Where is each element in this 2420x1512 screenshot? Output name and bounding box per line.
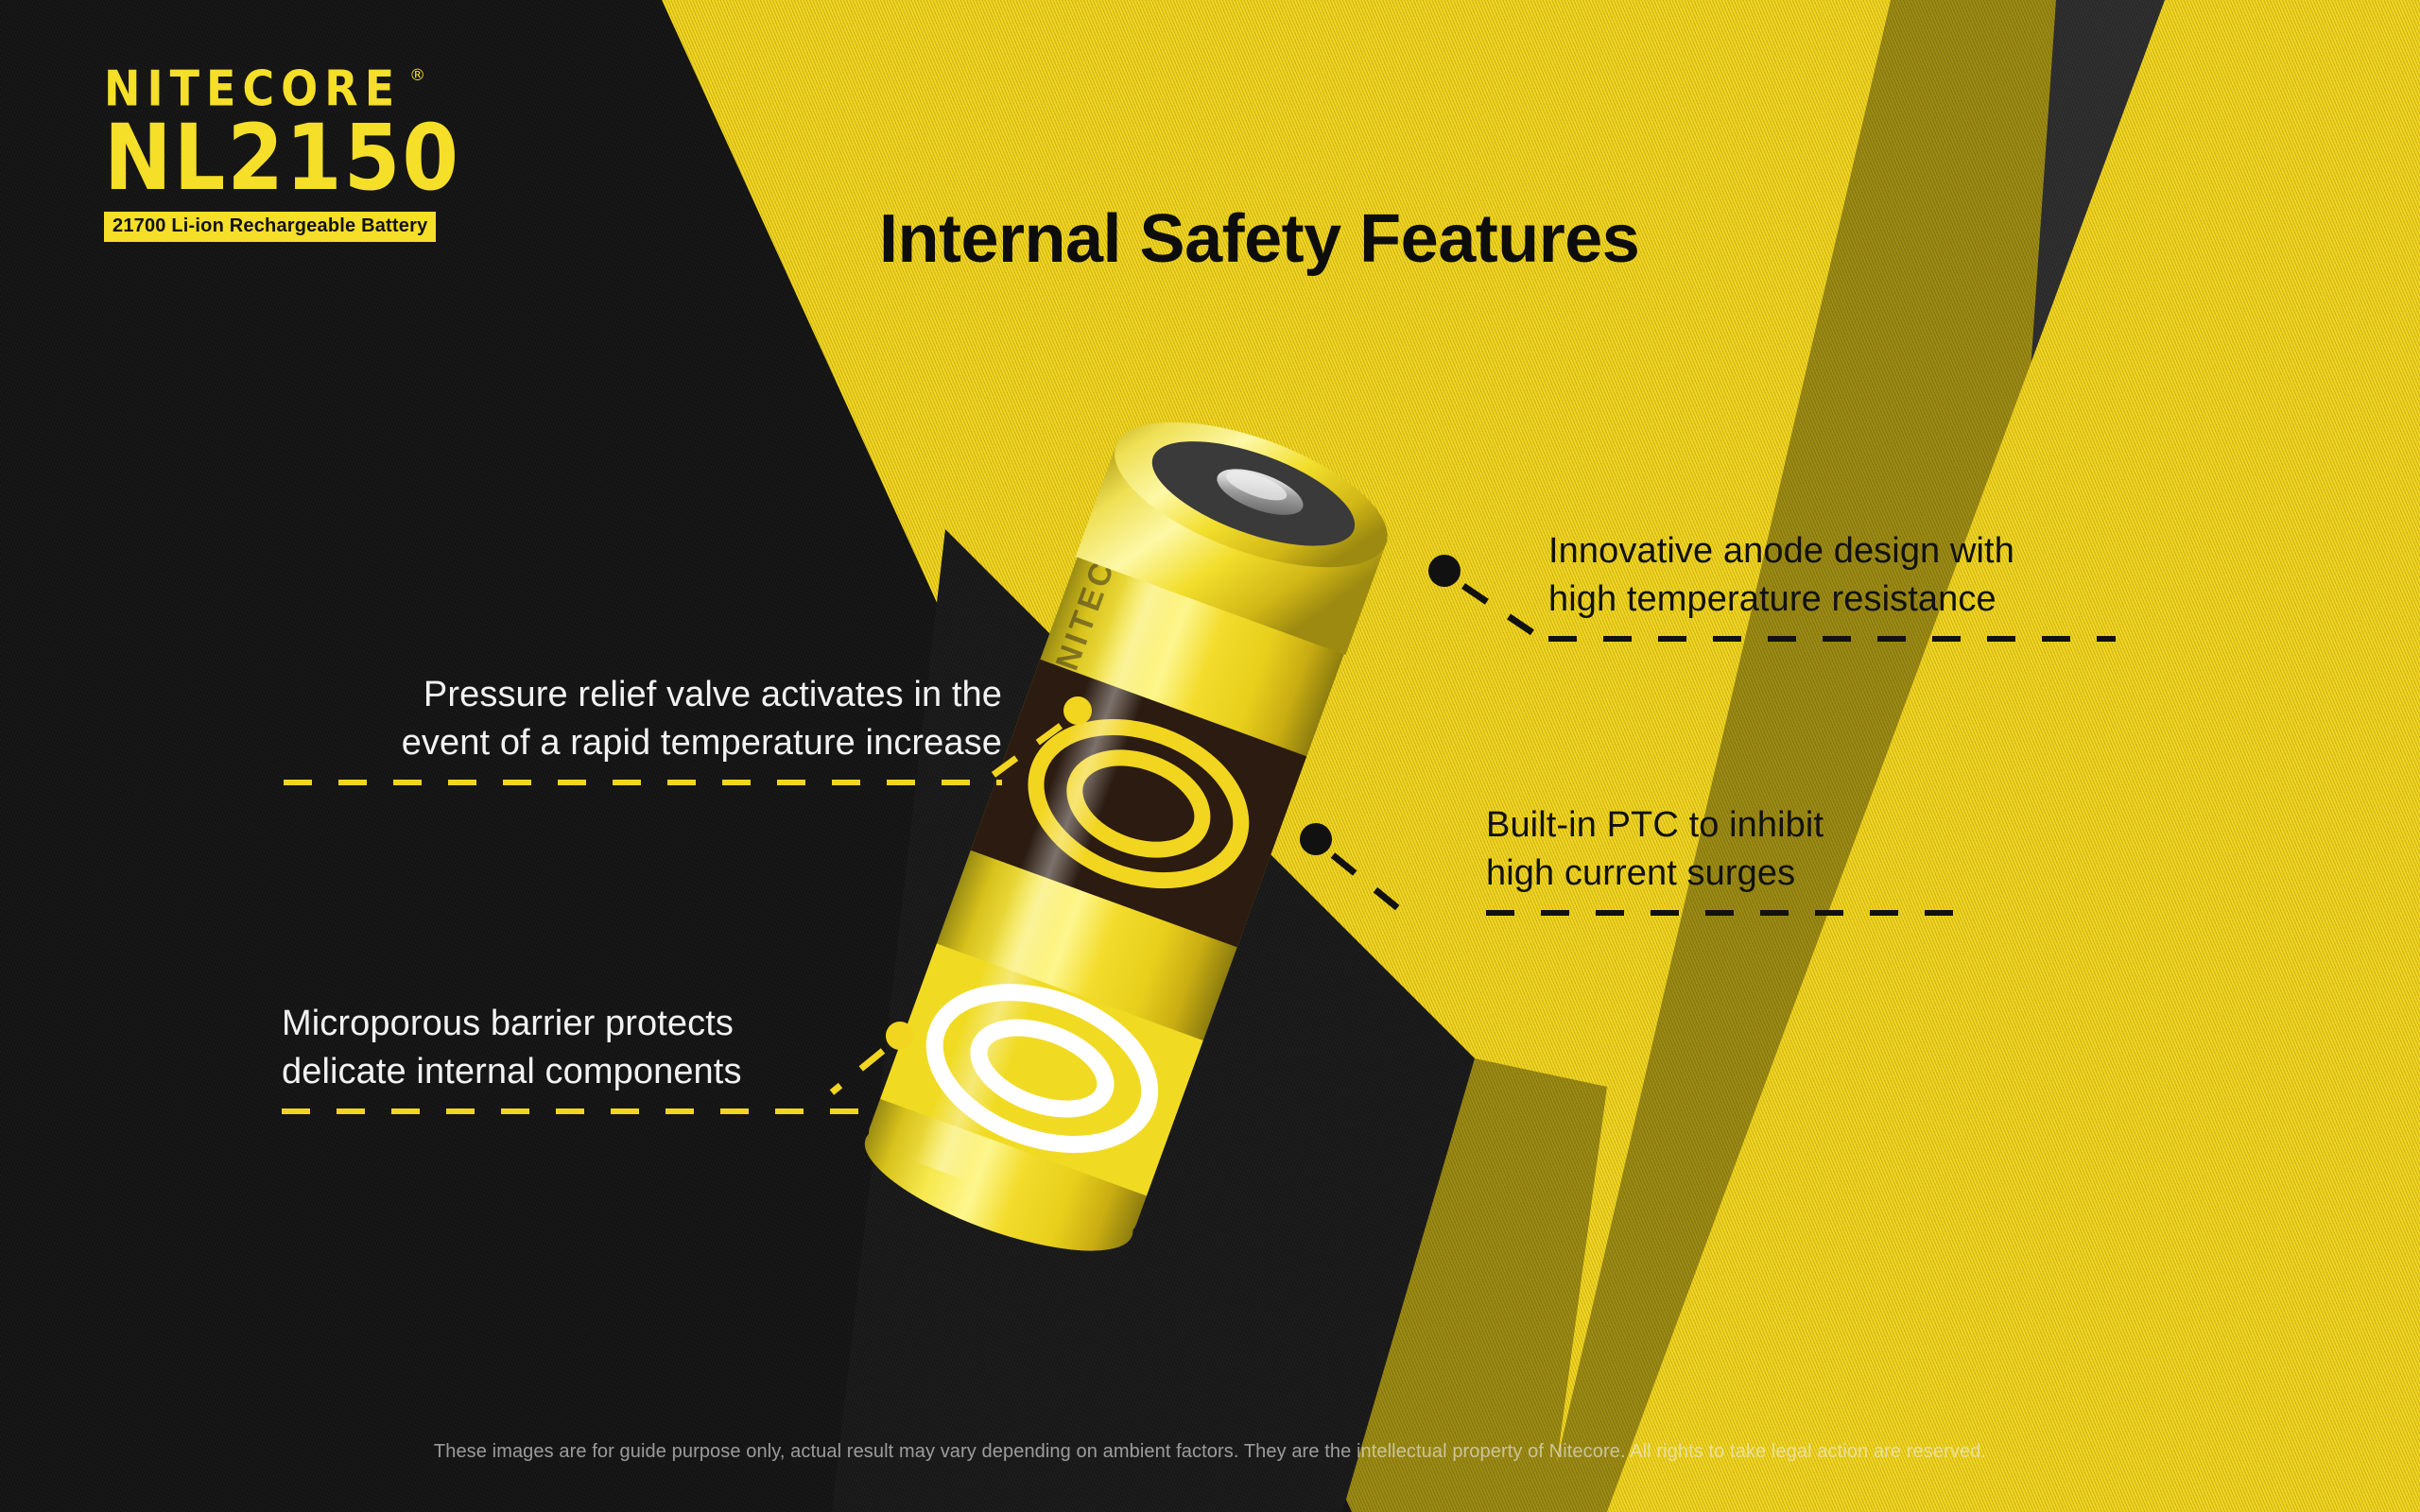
registered-mark-icon: ® xyxy=(409,68,425,84)
callout-microporous-line-2: delicate internal components xyxy=(282,1048,868,1096)
battery-illustration: NITECORE xyxy=(832,416,1512,1361)
brand-row: NITECORE ® xyxy=(104,64,454,108)
callout-microporous-barrier: Microporous barrier protects delicate in… xyxy=(282,1000,868,1114)
callout-pressure-relief-line-1: Pressure relief valve activates in the xyxy=(284,671,1002,719)
callout-anode: Innovative anode design with high temper… xyxy=(1548,527,2116,642)
callout-ptc: Built-in PTC to inhibit high current sur… xyxy=(1486,801,1978,916)
callout-anode-line-1: Innovative anode design with xyxy=(1548,527,2116,576)
product-model: NL2150 xyxy=(104,115,460,202)
infographic-canvas: NITECORE ® NL2150 21700 Li-ion Rechargea… xyxy=(0,0,2420,1512)
battery-group: NITECORE xyxy=(849,416,1406,1278)
callout-ptc-line-2: high current surges xyxy=(1486,850,1978,898)
page-title: Internal Safety Features xyxy=(879,200,1639,278)
brand-logo-block: NITECORE ® NL2150 21700 Li-ion Rechargea… xyxy=(104,64,454,242)
product-subtitle: 21700 Li-ion Rechargeable Battery xyxy=(104,212,436,242)
callout-anode-underline xyxy=(1548,636,2116,642)
callout-ptc-line-1: Built-in PTC to inhibit xyxy=(1486,801,1978,850)
callout-ptc-underline xyxy=(1486,910,1978,916)
callout-microporous-line-1: Microporous barrier protects xyxy=(282,1000,868,1048)
callout-anode-line-2: high temperature resistance xyxy=(1548,576,2116,624)
callout-microporous-underline xyxy=(282,1108,868,1114)
callout-pressure-relief-line-2: event of a rapid temperature increase xyxy=(284,719,1002,767)
callout-pressure-relief-valve: Pressure relief valve activates in the e… xyxy=(284,671,1002,785)
callout-pressure-relief-underline xyxy=(284,780,1002,785)
footer-disclaimer: These images are for guide purpose only,… xyxy=(0,1441,2420,1463)
battery-svg: NITECORE xyxy=(832,416,1512,1361)
